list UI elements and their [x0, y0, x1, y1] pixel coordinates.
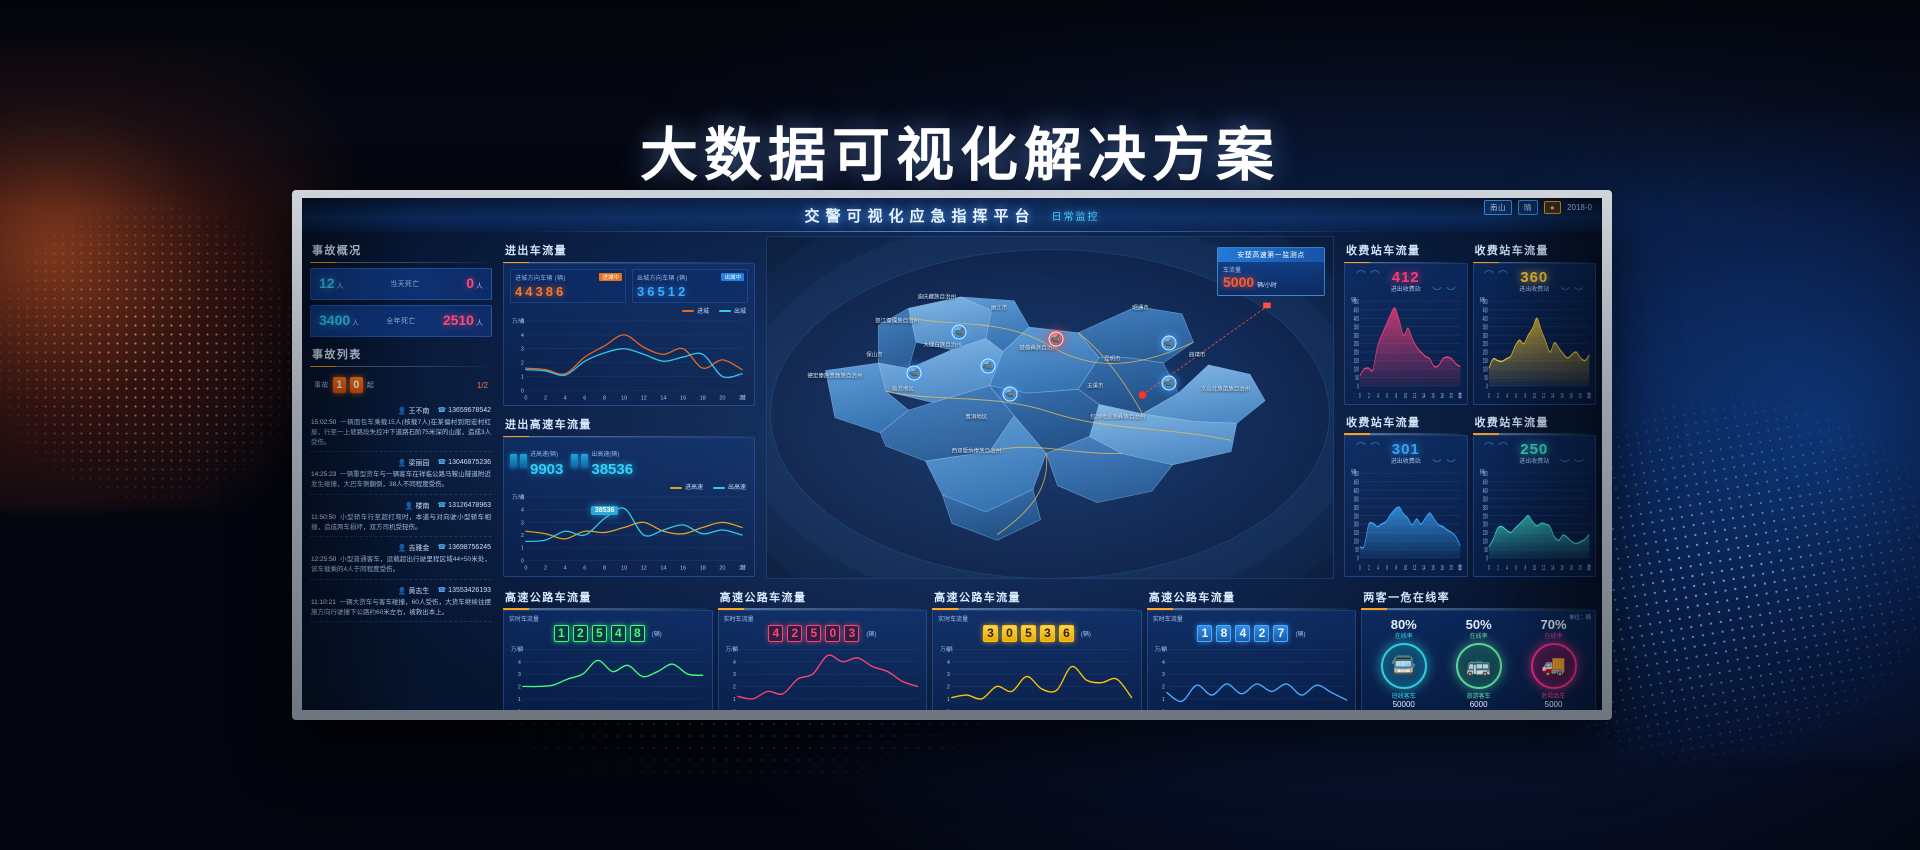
- svg-text:10: 10: [1532, 564, 1535, 572]
- toll-station-panel: 收费站车流量250进出收费站辆0501001502002503003504004…: [1473, 410, 1597, 577]
- digit: 8: [1216, 625, 1231, 642]
- highway-flow-panel: 高速公路车流量实时车流量42503(辆)万/辆01234502468101214…: [718, 585, 928, 710]
- svg-text:时: 时: [741, 564, 747, 572]
- svg-text:50: 50: [1484, 547, 1487, 555]
- gauge-icon: [510, 454, 517, 468]
- accident-description: 12:25:50 小型普通客车，运载超出行驶里程区域44+50米处，该车载乘的4…: [311, 555, 491, 575]
- svg-text:8: 8: [1396, 393, 1398, 401]
- toll-station-chart: 辆050100150200250300350400450500024681012…: [1349, 468, 1463, 574]
- highway-entry-exit-chart: 万/辆 38536 0123450246810121416182022时: [510, 493, 748, 572]
- digit: 4: [525, 284, 532, 299]
- outbound-counter: 出城方向车辆 (辆) 出城中 36512: [632, 269, 748, 303]
- toll-station-panel: 收费站车流量360进出收费站辆0501001502002503003504004…: [1473, 238, 1597, 405]
- svg-text:时: 时: [741, 393, 747, 401]
- toll-station-body: 412进出收费站辆0501001502002503003504004505000…: [1344, 263, 1468, 405]
- svg-text:0: 0: [1359, 564, 1361, 572]
- highway-flow-caption: 实时车流量: [509, 614, 707, 623]
- svg-text:200: 200: [1354, 349, 1359, 357]
- y-axis-unit: 辆: [1351, 468, 1357, 476]
- svg-text:200: 200: [1482, 349, 1487, 357]
- digit: 3: [1040, 625, 1055, 642]
- svg-text:450: 450: [1354, 479, 1359, 487]
- online-rate-label: 在线率: [1531, 631, 1577, 640]
- svg-text:18: 18: [1440, 564, 1443, 572]
- svg-text:250: 250: [1354, 341, 1359, 349]
- svg-text:18: 18: [700, 566, 706, 572]
- digit: 0: [1002, 625, 1017, 642]
- alert-icon: ●: [1544, 201, 1561, 214]
- y-axis-unit: 万/辆: [512, 493, 525, 501]
- svg-text:2: 2: [1162, 684, 1165, 690]
- svg-text:16: 16: [1431, 393, 1434, 401]
- map-region-label: 楚雄彝族自治州: [1019, 346, 1058, 353]
- map-region-label: 普洱地区: [965, 414, 987, 421]
- accident-year-death-label: 全年死亡: [386, 316, 416, 326]
- toll-station-panel: 收费站车流量301进出收费站辆0501001502002503003504004…: [1344, 410, 1468, 577]
- accident-description: 15:02:50 一辆面包车乘载15人(核载7人)在某偏村到阳宏村红屋，行至一上…: [311, 418, 491, 447]
- accident-stat-row: 3400人 全年死亡 2510人: [310, 305, 492, 337]
- toll-station-body: 250进出收费站辆0501001502002503003504004505000…: [1473, 435, 1597, 577]
- svg-text:时: 时: [1587, 390, 1590, 400]
- digit: 4: [611, 625, 626, 642]
- accident-time: 14:25:23: [311, 471, 336, 478]
- digit: 4: [515, 284, 522, 299]
- map-region-label: 昆明市: [1104, 356, 1121, 363]
- digit: 5: [592, 625, 607, 642]
- svg-text:时: 时: [1458, 562, 1461, 572]
- svg-text:18: 18: [1569, 393, 1572, 401]
- svg-text:250: 250: [1482, 341, 1487, 349]
- accident-reporter-name: 楼南: [405, 501, 430, 511]
- toll-station-title: 收费站车流量: [1473, 410, 1597, 435]
- digit: 7: [1273, 625, 1288, 642]
- svg-text:2: 2: [521, 533, 524, 539]
- map-region-label: 保山市: [866, 353, 883, 360]
- accident-reporter-name: 王不南: [398, 406, 430, 416]
- list-item[interactable]: 吉雅金1369875624512:25:50 小型普通客车，运载超出行驶里程区域…: [310, 540, 492, 580]
- map-panel: 迪庆藏族自治州丽江市怒江傈僳族自治州大理白族自治州楚雄彝族自治州保山市昭通市昆明…: [760, 232, 1340, 583]
- digit: 2: [678, 284, 685, 299]
- svg-text:12: 12: [1413, 393, 1416, 401]
- accident-contact: 王不南13659678542: [311, 406, 491, 416]
- svg-text:4: 4: [1162, 659, 1165, 665]
- highway-entry-exit-body: 进高速(辆) 9903 出高速(辆) 38536: [503, 437, 755, 576]
- date-label: 2018-0: [1567, 203, 1592, 212]
- map-canvas[interactable]: 迪庆藏族自治州丽江市怒江傈僳族自治州大理白族自治州楚雄彝族自治州保山市昭通市昆明…: [766, 236, 1334, 579]
- toll-station-chart: 辆050100150200250300350400450500024681012…: [1478, 468, 1592, 574]
- map-tooltip-unit: 辆/小时: [1257, 283, 1277, 289]
- svg-text:6: 6: [1386, 393, 1388, 401]
- map-region-label: 文山壮族苗族自治州: [1201, 387, 1251, 394]
- svg-text:3: 3: [521, 521, 524, 527]
- online-rate-value: 50000: [1381, 700, 1427, 709]
- digit: 2: [573, 625, 588, 642]
- highway-flow-title: 高速公路车流量: [932, 585, 1142, 610]
- digit: 1: [554, 625, 569, 642]
- accident-contact: 梁丽园13046875236: [311, 458, 491, 468]
- accident-contact: 吉雅金13698756245: [311, 543, 491, 553]
- y-axis-unit: 万/辆: [1155, 645, 1168, 653]
- svg-text:2: 2: [544, 395, 547, 401]
- digit: 2: [1254, 625, 1269, 642]
- svg-text:2: 2: [544, 566, 547, 572]
- digit: 3: [983, 625, 998, 642]
- digit: 4: [768, 625, 783, 642]
- map-tooltip: 安楚高速第一监测点 车流量 5000辆/小时: [1217, 247, 1325, 296]
- map-camera-marker[interactable]: 📹: [952, 325, 967, 340]
- svg-text:8: 8: [603, 566, 606, 572]
- list-item[interactable]: 王不南1365967854215:02:50 一辆面包车乘载15人(核载7人)在…: [310, 403, 492, 452]
- digit: 6: [1059, 625, 1074, 642]
- legend-item: 出城: [719, 306, 746, 315]
- unit-label: 人: [476, 320, 483, 327]
- map-camera-marker[interactable]: 📹: [980, 359, 995, 374]
- accident-year-injured-value: 3400: [319, 312, 350, 328]
- svg-text:0: 0: [947, 709, 950, 710]
- svg-text:14: 14: [1422, 564, 1425, 572]
- svg-text:4: 4: [947, 659, 950, 665]
- svg-text:4: 4: [732, 659, 735, 665]
- highway-flow-panel: 高速公路车流量实时车流量18427(辆)万/辆01234502468101214…: [1147, 585, 1357, 710]
- bus-icon: 🚍: [1381, 643, 1427, 689]
- signal-wave-icon: [1354, 442, 1458, 462]
- toll-station-title: 收费站车流量: [1344, 238, 1468, 263]
- y-axis-unit: 辆: [1480, 468, 1486, 476]
- svg-text:300: 300: [1482, 333, 1487, 341]
- digit: 0: [825, 625, 840, 642]
- highway-counters: 进高速(辆) 9903 出高速(辆) 38536: [510, 443, 748, 479]
- accident-reporter-name: 梁丽园: [398, 458, 430, 468]
- svg-text:1: 1: [521, 374, 524, 380]
- map-camera-marker[interactable]: 📹: [1161, 335, 1176, 350]
- digit: 1: [1197, 625, 1212, 642]
- svg-text:4: 4: [564, 395, 567, 401]
- digit: 5: [657, 284, 664, 299]
- svg-text:12: 12: [1541, 393, 1544, 401]
- highway-flow-digits: 30536(辆): [938, 625, 1136, 642]
- tab-daily-monitor[interactable]: 日常监控: [1052, 208, 1100, 223]
- svg-text:4: 4: [1506, 564, 1508, 572]
- unit-label: 人: [476, 283, 483, 290]
- online-rate-cell[interactable]: 70%在线率🚚危险品车5000: [1531, 617, 1577, 709]
- online-rate-cell[interactable]: 80%在线率🚍班线客车50000: [1381, 617, 1427, 709]
- digit: 4: [1235, 625, 1250, 642]
- svg-text:0: 0: [1357, 383, 1359, 391]
- accident-stat-row: 12人 当天死亡 0人: [310, 268, 492, 300]
- accident-overview-title: 事故概况: [310, 238, 492, 263]
- svg-text:16: 16: [680, 566, 686, 572]
- svg-text:8: 8: [1396, 564, 1398, 572]
- map-tooltip-body: 车流量 5000辆/小时: [1218, 262, 1324, 295]
- svg-text:0: 0: [1359, 393, 1361, 401]
- svg-text:时: 时: [1458, 390, 1461, 400]
- svg-text:400: 400: [1354, 487, 1359, 495]
- digit: 3: [844, 625, 859, 642]
- online-rate-label: 在线率: [1456, 631, 1502, 640]
- online-rate-value: 5000: [1531, 700, 1577, 709]
- svg-text:16: 16: [1431, 564, 1434, 572]
- svg-text:10: 10: [621, 395, 627, 401]
- svg-text:2: 2: [947, 684, 950, 690]
- map-tooltip-value: 5000: [1223, 274, 1254, 290]
- svg-text:3: 3: [732, 672, 735, 678]
- digit: 1: [668, 284, 675, 299]
- unit-label: 人: [337, 283, 344, 290]
- coach-icon: 🚌: [1456, 643, 1502, 689]
- list-item[interactable]: 梁丽园1304687523614:25:23 一辆重型货车与一辆客车在祥临公路马…: [310, 455, 492, 495]
- accident-description: 14:25:23 一辆重型货车与一辆客车在祥临公路马鞍山隧道附近发生碰撞，大巴车…: [311, 470, 491, 490]
- svg-text:12: 12: [641, 395, 647, 401]
- online-rate-name: 旅游客车: [1456, 691, 1502, 700]
- svg-text:0: 0: [524, 566, 527, 572]
- svg-text:400: 400: [1354, 316, 1359, 324]
- svg-text:350: 350: [1482, 324, 1487, 332]
- truck-icon: 🚚: [1531, 643, 1577, 689]
- highway-flow-caption: 实时车流量: [724, 614, 922, 623]
- signal-wave-icon: [1482, 442, 1586, 462]
- map-region-label: 怒江傈僳族自治州: [875, 319, 919, 326]
- svg-text:450: 450: [1482, 307, 1487, 315]
- highway-flow-caption: 实时车流量: [1153, 614, 1351, 623]
- accident-time: 15:02:50: [311, 419, 336, 426]
- y-axis-unit: 万/辆: [726, 645, 739, 653]
- map-camera-marker[interactable]: 📹: [1003, 386, 1018, 401]
- svg-text:400: 400: [1482, 487, 1487, 495]
- accident-today-death-value: 0: [466, 275, 474, 291]
- highway-flow-digits: 18427(辆): [1153, 625, 1351, 642]
- toll-station-chart: 辆050100150200250300350400450500024681012…: [1478, 296, 1592, 402]
- highway-out-counter: 出高速(辆) 38536: [571, 443, 633, 479]
- highway-flow-body: 实时车流量30536(辆)万/辆012345024681012141618202…: [932, 610, 1142, 710]
- svg-text:12: 12: [641, 566, 647, 572]
- highway-entry-exit-panel: 进出高速车流量 进高速(辆) 9903: [503, 412, 755, 576]
- display-wall: 交警可视化应急指挥平台 日常监控 南山 晴 ● 2018-0 事故概况 12人: [292, 190, 1612, 720]
- digit: 3: [637, 284, 644, 299]
- svg-text:18: 18: [700, 395, 706, 401]
- map-region-label: 临沧地区: [892, 387, 914, 394]
- online-rate-name: 危险品车: [1531, 691, 1577, 700]
- accident-year-death-value: 2510: [443, 312, 474, 328]
- region-badge[interactable]: 南山: [1484, 200, 1512, 215]
- toll-station-wave: 250进出收费站: [1478, 439, 1592, 466]
- accident-count-unit: 起: [367, 380, 374, 390]
- online-rate-percent: 50%: [1456, 617, 1502, 632]
- toll-station-body: 360进出收费站辆0501001502002503003504004505000…: [1473, 263, 1597, 405]
- highway-flow-unit: (辆): [1081, 629, 1091, 638]
- y-axis-unit: 万/辆: [512, 317, 525, 325]
- highway-flow-body: 实时车流量18427(辆)万/辆012345024681012141618202…: [1147, 610, 1357, 710]
- svg-text:16: 16: [1560, 393, 1563, 401]
- svg-text:20: 20: [1578, 564, 1581, 572]
- svg-text:50: 50: [1355, 547, 1358, 555]
- legend-item: 出高速: [713, 482, 746, 491]
- highway-flow-title: 高速公路车流量: [718, 585, 928, 610]
- svg-text:350: 350: [1482, 496, 1487, 504]
- svg-text:100: 100: [1482, 538, 1487, 546]
- map-region-label: 丽江市: [991, 305, 1008, 312]
- flow-column: 进出车流量 进城方向车辆 (辆) 进城中 44386 出城方向车辆 (辆): [498, 232, 760, 583]
- digit: 8: [630, 625, 645, 642]
- highway-flow-title: 高速公路车流量: [1147, 585, 1357, 610]
- toll-station-wave: 301进出收费站: [1349, 439, 1463, 466]
- entry-exit-flow-title: 进出车流量: [503, 238, 755, 263]
- highway-out-value: 38536: [591, 461, 633, 478]
- svg-text:150: 150: [1354, 358, 1359, 366]
- accident-count-digit: 1: [333, 377, 346, 393]
- highway-flow-panel: 高速公路车流量实时车流量12548(辆)万/辆01234502468101214…: [503, 585, 713, 710]
- accident-contact: 楼南13126478963: [311, 501, 491, 511]
- svg-text:0: 0: [1486, 383, 1488, 391]
- online-rate-value: 6000: [1456, 700, 1502, 709]
- svg-text:3: 3: [518, 672, 521, 678]
- y-axis-unit: 万/辆: [511, 645, 524, 653]
- svg-text:16: 16: [1560, 564, 1563, 572]
- platform-header: 交警可视化应急指挥平台 日常监控 南山 晴 ● 2018-0: [302, 198, 1602, 232]
- svg-text:100: 100: [1354, 538, 1359, 546]
- svg-text:0: 0: [1486, 555, 1488, 563]
- online-rate-cell[interactable]: 50%在线率🚌旅游客车6000: [1456, 617, 1502, 709]
- svg-text:2: 2: [1368, 564, 1370, 572]
- svg-text:8: 8: [603, 395, 606, 401]
- highway-in-counter: 进高速(辆) 9903: [510, 443, 563, 479]
- accident-phone: 13046875236: [437, 458, 491, 468]
- accident-time: 11:50:50: [311, 514, 336, 521]
- online-rate-name: 班线客车: [1381, 691, 1427, 700]
- accident-phone: 13659678542: [437, 406, 491, 416]
- svg-text:6: 6: [583, 566, 586, 572]
- svg-text:2: 2: [521, 361, 524, 367]
- outbound-tag: 出城中: [721, 273, 744, 281]
- map-camera-marker[interactable]: 📹: [1048, 332, 1063, 347]
- svg-text:6: 6: [1515, 393, 1517, 401]
- accident-reporter-name: 吉雅金: [398, 543, 430, 553]
- svg-text:14: 14: [1551, 564, 1554, 572]
- accident-today-death-label: 当天死亡: [390, 279, 420, 289]
- svg-text:1: 1: [518, 696, 521, 702]
- map-region-label: 大理白族自治州: [923, 343, 962, 350]
- digit: 5: [806, 625, 821, 642]
- online-rate-title: 两客一危在线率: [1361, 585, 1596, 610]
- accident-time: 12:25:50: [311, 556, 336, 563]
- accident-contact: 黄志生13553426193: [311, 586, 491, 596]
- toll-station-panel: 收费站车流量412进出收费站辆0501001502002503003504004…: [1344, 238, 1468, 405]
- toll-station-wave: 412进出收费站: [1349, 267, 1463, 294]
- signal-wave-icon: [1354, 270, 1458, 290]
- svg-text:150: 150: [1354, 530, 1359, 538]
- accident-pagination[interactable]: 1/2: [477, 381, 488, 390]
- map-region-label: 迪庆藏族自治州: [918, 295, 957, 302]
- map-camera-marker[interactable]: 📹: [1161, 376, 1176, 391]
- map-camera-marker[interactable]: 📹: [907, 366, 922, 381]
- gauge-icon: [581, 454, 588, 468]
- svg-text:时: 时: [1587, 562, 1590, 572]
- accident-items[interactable]: 王不南1365967854215:02:50 一辆面包车乘载15人(核载7人)在…: [310, 403, 492, 710]
- svg-text:10: 10: [1532, 393, 1535, 401]
- highway-flow-chart: 万/辆0123450246810121416182022时: [1153, 645, 1351, 710]
- svg-text:300: 300: [1354, 504, 1359, 512]
- gauge-icon: [520, 454, 527, 468]
- highway-flow-chart: 万/辆0123450246810121416182022时: [509, 645, 707, 710]
- svg-text:4: 4: [518, 659, 521, 665]
- accident-overview-stats: 12人 当天死亡 0人 3400人 全年死亡 2510人: [310, 268, 492, 337]
- digit: 8: [546, 284, 553, 299]
- inbound-digits: 44386: [515, 284, 621, 299]
- digit: 5: [1021, 625, 1036, 642]
- highway-flow-caption: 实时车流量: [938, 614, 1136, 623]
- legend-item: 进城: [682, 306, 709, 315]
- accident-description: 11:50:50 小型轿车行至超打弯时，本道与对向驶小型轿车相撞，造成两车损坏，…: [311, 513, 491, 533]
- highway-flow-body: 实时车流量42503(辆)万/辆012345024681012141618202…: [718, 610, 928, 710]
- svg-text:10: 10: [621, 566, 627, 572]
- svg-text:450: 450: [1354, 307, 1359, 315]
- inbound-counter: 进城方向车辆 (辆) 进城中 44386: [510, 269, 626, 303]
- outbound-digits: 36512: [637, 284, 743, 299]
- digit: 3: [535, 284, 542, 299]
- svg-text:50: 50: [1484, 375, 1487, 383]
- toll-station-body: 301进出收费站辆0501001502002503003504004505000…: [1344, 435, 1468, 577]
- accident-time: 11:10:21: [311, 599, 336, 606]
- highway-flow-chart: 万/辆0123450246810121416182022时: [938, 645, 1136, 710]
- header-status: 南山 晴 ● 2018-0: [1484, 200, 1592, 215]
- screen-surface: 交警可视化应急指挥平台 日常监控 南山 晴 ● 2018-0 事故概况 12人: [302, 198, 1602, 710]
- svg-text:200: 200: [1482, 521, 1487, 529]
- svg-text:14: 14: [660, 566, 666, 572]
- accident-list-title: 事故列表: [310, 342, 492, 367]
- svg-text:0: 0: [1357, 555, 1359, 563]
- svg-text:0: 0: [521, 388, 524, 394]
- list-item[interactable]: 黄志生1355342619311:10:21 一辆大货车与客车碰撞，60人受伤，…: [310, 583, 492, 623]
- svg-text:16: 16: [680, 395, 686, 401]
- svg-text:300: 300: [1482, 504, 1487, 512]
- svg-text:400: 400: [1482, 316, 1487, 324]
- svg-text:3: 3: [947, 672, 950, 678]
- map-tooltip-title: 安楚高速第一监测点: [1218, 248, 1324, 262]
- svg-text:14: 14: [1551, 393, 1554, 401]
- map-region-label: 西双版纳傣族自治州: [952, 448, 1002, 455]
- chart-tooltip: 38536: [591, 506, 618, 515]
- svg-text:0: 0: [1162, 709, 1165, 710]
- svg-text:0: 0: [524, 395, 527, 401]
- svg-text:150: 150: [1482, 358, 1487, 366]
- svg-text:4: 4: [1377, 393, 1379, 401]
- svg-text:0: 0: [732, 709, 735, 710]
- highway-flow-digits: 42503(辆): [724, 625, 922, 642]
- highway-flow-title: 高速公路车流量: [503, 585, 713, 610]
- svg-text:6: 6: [1515, 564, 1517, 572]
- platform-title: 交警可视化应急指挥平台: [804, 205, 1035, 226]
- left-column: 事故概况 12人 当天死亡 0人 3400人 全年死亡 2510人: [302, 232, 498, 710]
- online-rate-percent: 80%: [1381, 617, 1427, 632]
- entry-exit-counters: 进城方向车辆 (辆) 进城中 44386 出城方向车辆 (辆) 出城中 3651…: [510, 269, 748, 303]
- svg-text:3: 3: [521, 347, 524, 353]
- screenshot-root: 大数据可视化解决方案 交警可视化应急指挥平台 日常监控 南山 晴 ● 2018-…: [0, 0, 1920, 850]
- online-unit-label: 单位：辆: [1569, 613, 1591, 621]
- weather-badge: 晴: [1518, 200, 1538, 215]
- svg-text:18: 18: [1440, 393, 1443, 401]
- highway-out-caption: 出高速(辆): [591, 452, 619, 458]
- entry-exit-legend: 进城出城: [510, 303, 748, 315]
- list-item[interactable]: 楼南1312647896311:50:50 小型轿车行至超打弯时，本道与对向驶小…: [310, 498, 492, 538]
- svg-text:100: 100: [1482, 366, 1487, 374]
- digit: 6: [556, 284, 563, 299]
- accident-count-label: 事故: [314, 380, 329, 390]
- entry-exit-flow-panel: 进出车流量 进城方向车辆 (辆) 进城中 44386 出城方向车辆 (辆): [503, 238, 755, 406]
- svg-text:150: 150: [1482, 530, 1487, 538]
- svg-text:2: 2: [732, 684, 735, 690]
- svg-text:6: 6: [583, 395, 586, 401]
- svg-text:0: 0: [1487, 393, 1489, 401]
- accident-phone: 13126478963: [437, 501, 491, 511]
